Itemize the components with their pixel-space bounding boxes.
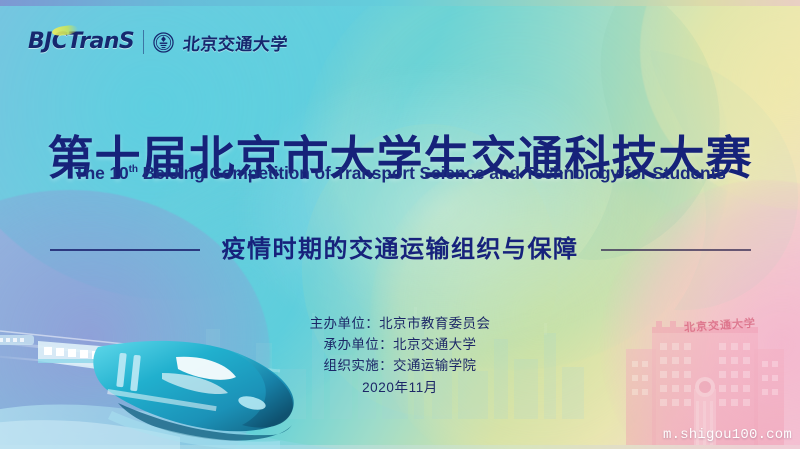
theme-rule-right xyxy=(601,249,751,251)
site-watermark: m.shigou100.com xyxy=(663,427,792,443)
top-edge-band xyxy=(0,0,800,6)
page-title-en: The 10th BeiJing Competition of Transpor… xyxy=(0,165,800,182)
bjctrans-wordmark[interactable]: BJCTranS xyxy=(28,31,134,53)
organizer-undertaker: 承办单位：北京交通大学 xyxy=(0,334,800,355)
title-en-ordinal: th xyxy=(129,164,138,175)
bjtu-seal-icon xyxy=(153,32,174,53)
title-en-prefix: The 10 xyxy=(74,163,129,183)
university-name-cn: 北京交通大学 xyxy=(182,30,289,55)
title-en-suffix: BeiJing Competition of Transport Science… xyxy=(138,163,726,183)
organizer-host: 主办单位：北京市教育委员会 xyxy=(0,313,800,334)
logo-divider xyxy=(143,30,144,54)
theme-text: 疫情时期的交通运输组织与保障 xyxy=(222,238,579,262)
poster-canvas: 北京交通大学 BJCTranS 北京交通大学 第十届北京市大学生交通科技大赛 T… xyxy=(0,0,800,449)
theme-row: 疫情时期的交通运输组织与保障 xyxy=(0,238,800,262)
event-date: 2020年11月 xyxy=(0,376,800,398)
header-logo-lockup[interactable]: BJCTranS 北京交通大学 xyxy=(28,26,288,58)
organizer-implementer: 组织实施：交通运输学院 xyxy=(0,355,800,376)
theme-rule-left xyxy=(50,249,200,251)
bjctrans-wordmark-text: BJCTranS xyxy=(28,29,134,54)
organizer-block: 主办单位：北京市教育委员会 承办单位：北京交通大学 组织实施：交通运输学院 20… xyxy=(0,313,800,398)
